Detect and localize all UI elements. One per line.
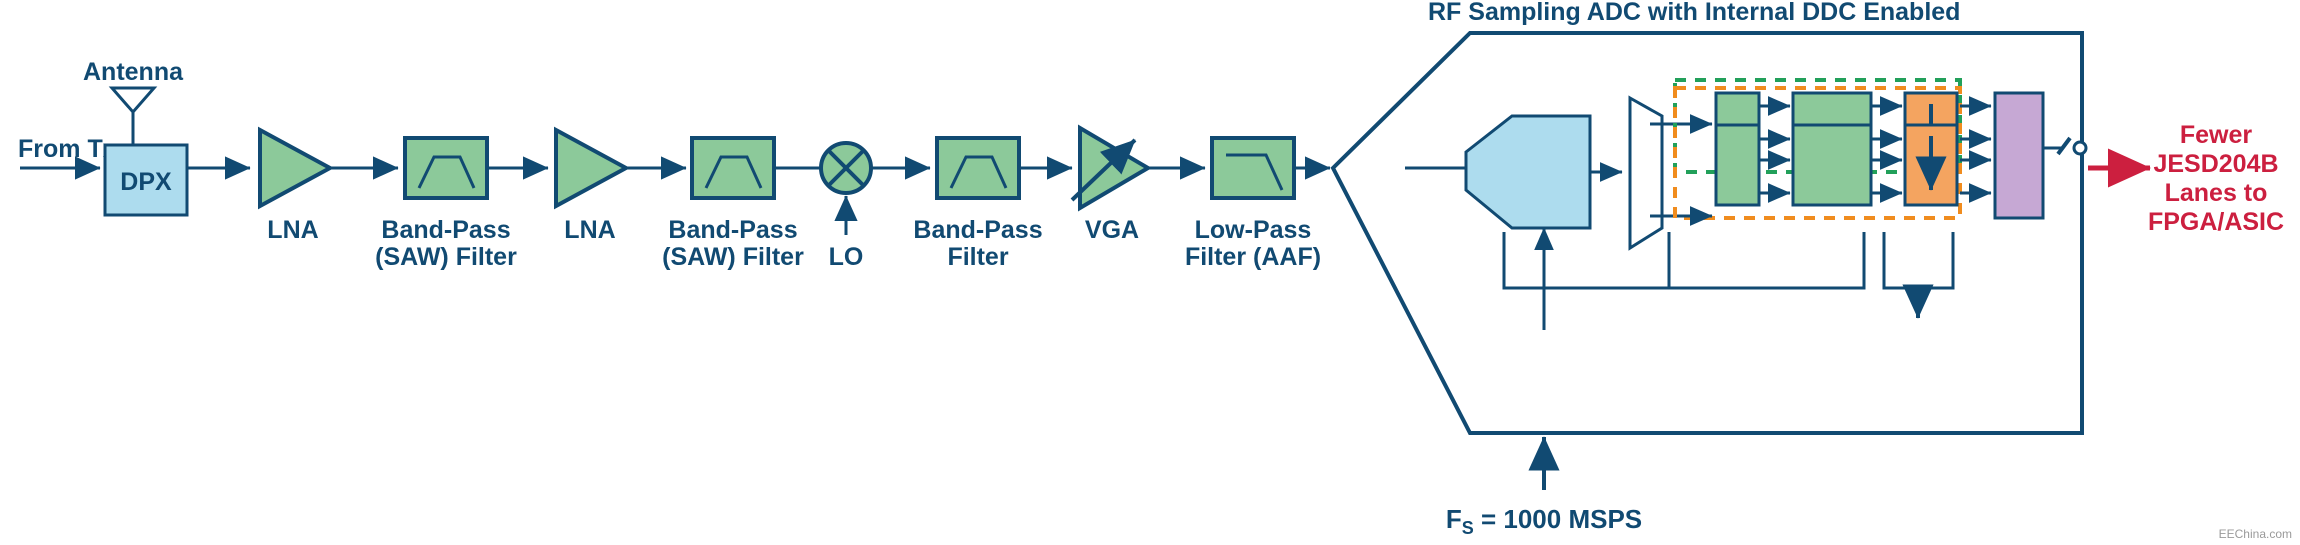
demux-body [1630,98,1662,248]
sample-clock-group: FS = 1000 MSPS [1446,228,1642,538]
vga-triangle [1080,128,1148,208]
output-label-line2: JESD204B [2153,150,2278,178]
demux-block[interactable] [1630,98,1690,248]
switch-terminal [2074,142,2086,154]
lower-filter-block[interactable] [1793,125,1871,205]
band-pass-saw-filter-2-block[interactable]: Band-Pass (SAW) Filter [662,138,804,271]
mixer-block[interactable]: LO [821,143,871,271]
lna-2-label: LNA [564,216,615,244]
antenna-group: Antenna [83,58,184,145]
jesd204b-serializer-block[interactable] [1995,93,2043,218]
output-label-line4: FPGA/ASIC [2148,208,2284,236]
from-tx-label: From Tx [18,135,117,163]
low-pass-filter-block[interactable]: Low-Pass Filter (AAF) [1185,138,1321,271]
band-pass-filter-3-block[interactable]: Band-Pass Filter [913,138,1042,271]
duplexer-block[interactable]: DPX [105,145,187,215]
bpf-3-body [937,138,1019,198]
decimation-control-bracket [1884,232,1953,288]
lna-1-label: LNA [267,216,318,244]
adc-clock-bracket [1504,232,1690,288]
bpf-3-label-line2: Filter [947,243,1008,271]
output-label-line1: Fewer [2180,121,2253,149]
fs-label: FS = 1000 MSPS [1446,504,1642,538]
lna-2-triangle [556,130,626,206]
input-from-tx: From Tx [18,135,117,168]
ddc-control-bracket [1669,232,1864,288]
bpf-2-label-line2: (SAW) Filter [662,243,804,271]
bpf-1-body [405,138,487,198]
bpf-1-label-line1: Band-Pass [381,216,510,244]
vga-label: VGA [1085,216,1139,244]
adc-core-block[interactable] [1405,116,1622,228]
bpf-2-body [692,138,774,198]
output-label-line3: Lanes to [2165,179,2268,207]
adc-boundary [1333,33,2082,433]
adc-core-body [1466,116,1590,228]
vga-block[interactable]: VGA [1072,128,1148,244]
adc-title: RF Sampling ADC with Internal DDC Enable… [1428,0,1960,26]
duplexer-label: DPX [120,168,172,196]
lpf-label-line2: Filter (AAF) [1185,243,1321,271]
antenna-label: Antenna [83,58,184,86]
block-diagram: Antenna From Tx DPX LNA Band-Pass (SAW) … [0,0,2300,545]
bpf-1-label-line2: (SAW) Filter [375,243,517,271]
switch-lever [2058,138,2070,154]
jesd-output-group: Fewer JESD204B Lanes to FPGA/ASIC [2088,121,2284,236]
lna-1-triangle [260,130,330,206]
control-bus-group [1504,232,1953,318]
diagram-canvas: Antenna From Tx DPX LNA Band-Pass (SAW) … [0,0,2300,545]
lo-label: LO [829,243,864,271]
serializer-body [1995,93,2043,218]
lna-2-block[interactable]: LNA [556,130,626,244]
antenna-icon [112,88,154,112]
lna-1-block[interactable]: LNA [260,130,330,244]
output-switch[interactable] [2043,138,2086,154]
bpf-2-label-line1: Band-Pass [668,216,797,244]
band-pass-saw-filter-1-block[interactable]: Band-Pass (SAW) Filter [375,138,517,271]
lower-nco-mixer-block[interactable] [1716,125,1759,205]
ddc-channel-lower [1680,125,1991,216]
bpf-3-label-line1: Band-Pass [913,216,1042,244]
lpf-label-line1: Low-Pass [1195,216,1312,244]
watermark: EEChina.com [2219,527,2292,541]
